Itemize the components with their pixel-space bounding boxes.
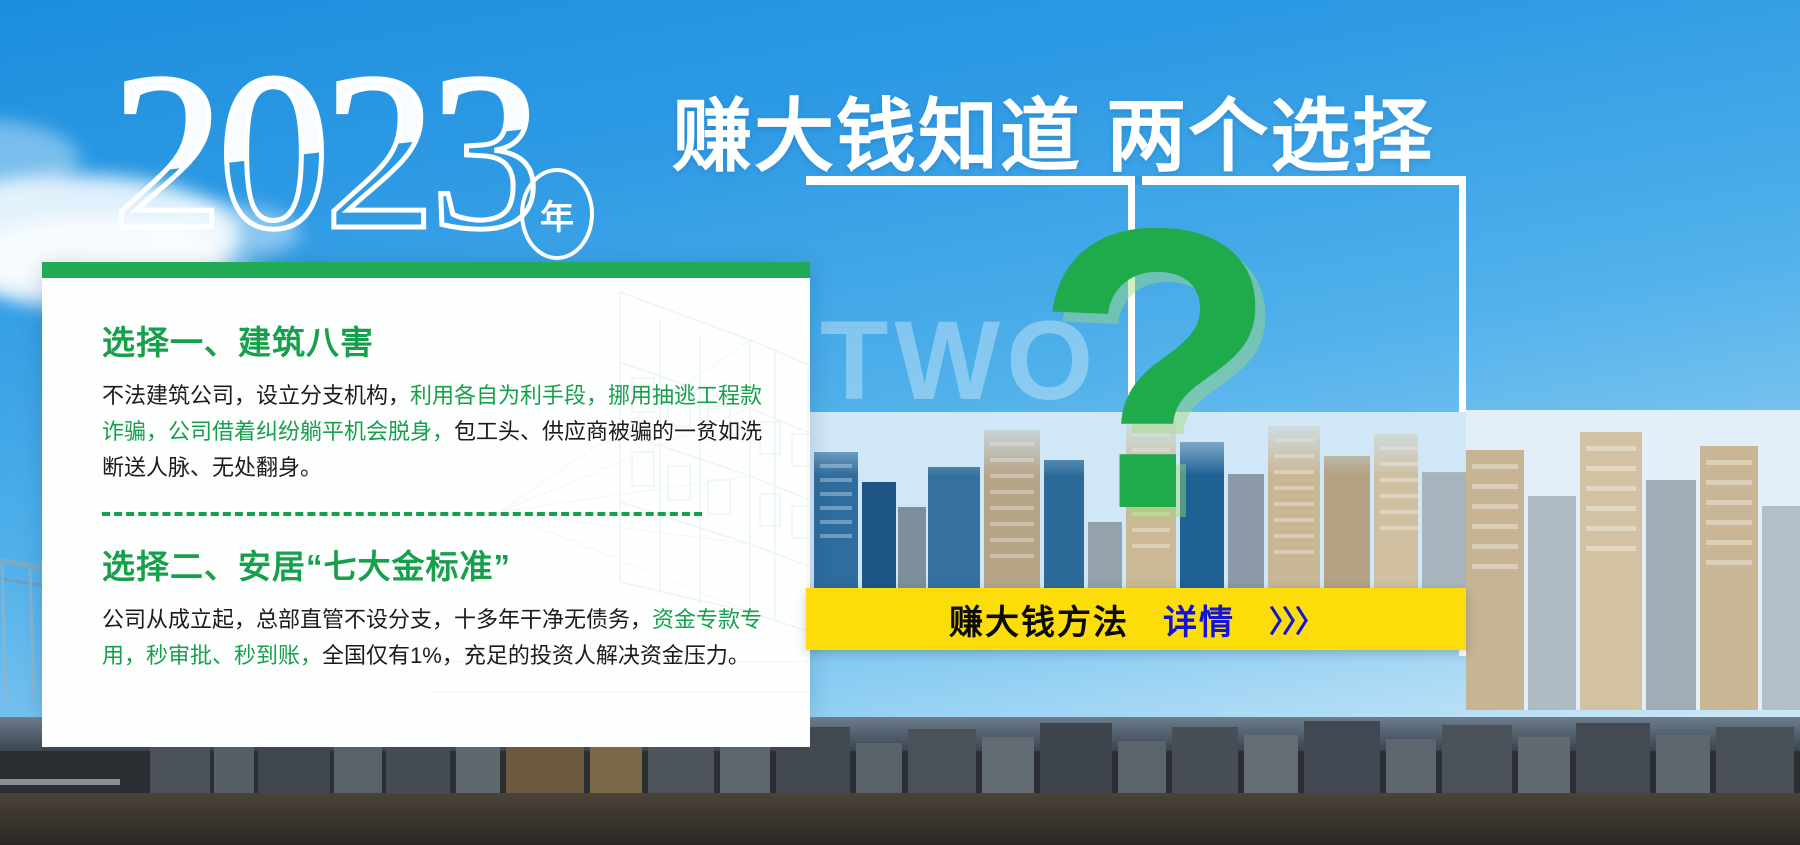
promo-banner: 2023 2023 年 赚大钱知道 两个选择 TWO CHOICES	[0, 0, 1800, 845]
cta-main-label: 赚大钱方法	[949, 595, 1129, 644]
card-body: 选择一、建筑八害 不法建筑公司，设立分支机构，利用各自为利手段，挪用抽逃工程款诈…	[102, 316, 780, 674]
band-building	[1716, 727, 1794, 793]
section-2-run-3: 全国仅有1%，充足的投资人解决资金压力。	[322, 643, 750, 668]
band-bridge	[0, 779, 120, 785]
band-building	[908, 729, 976, 793]
section-1-paragraph: 不法建筑公司，设立分支机构，利用各自为利手段，挪用抽逃工程款诈骗，公司借着纠纷躺…	[102, 378, 780, 486]
year-suffix-label: 年	[540, 190, 574, 239]
bottom-photo-band	[0, 717, 1800, 845]
cityscape-right-svg	[1466, 410, 1800, 710]
card-accent-bar	[42, 262, 810, 278]
band-building	[1040, 723, 1112, 793]
band-building	[1118, 741, 1166, 793]
section-2-run-1: 公司从成立起，总部直管不设分支，十多年干净无债务，	[102, 607, 652, 632]
section-1-title: 选择一、建筑八害	[102, 316, 780, 364]
band-building	[1518, 737, 1570, 793]
band-building	[1442, 725, 1512, 793]
band-building	[1244, 735, 1298, 793]
band-building	[982, 737, 1034, 793]
cta-detail-link[interactable]: 详情	[1163, 595, 1235, 644]
section-2-paragraph: 公司从成立起，总部直管不设分支，十多年干净无债务，资金专款专用，秒审批、秒到账，…	[102, 602, 780, 674]
content-card: 选择一、建筑八害 不法建筑公司，设立分支机构，利用各自为利手段，挪用抽逃工程款诈…	[42, 262, 810, 720]
band-building	[1386, 739, 1436, 793]
band-building	[720, 741, 770, 793]
year-block: 2023 2023	[112, 52, 536, 262]
band-building	[1172, 727, 1238, 793]
card-bottom-extension	[42, 717, 810, 747]
cityscape-right-image	[1466, 410, 1800, 710]
band-building	[456, 743, 500, 793]
question-mark-graphic: ?	[1034, 204, 1278, 534]
section-divider	[102, 512, 702, 516]
chevron-right-icon: 〉〉〉	[1269, 597, 1323, 641]
band-building	[1304, 721, 1380, 793]
band-building	[1656, 735, 1710, 793]
band-building	[334, 739, 382, 793]
band-building	[214, 745, 254, 793]
section-1-run-1: 不法建筑公司，设立分支机构，	[102, 383, 410, 408]
band-building	[1576, 723, 1650, 793]
section-2-title: 选择二、安居“七大金标准”	[102, 540, 780, 588]
band-building	[856, 743, 902, 793]
band-water	[0, 793, 1800, 845]
cloud-decoration	[0, 120, 80, 200]
cta-bar[interactable]: 赚大钱方法 详情 〉〉〉	[806, 588, 1466, 650]
year-suffix-badge: 年	[520, 168, 594, 260]
